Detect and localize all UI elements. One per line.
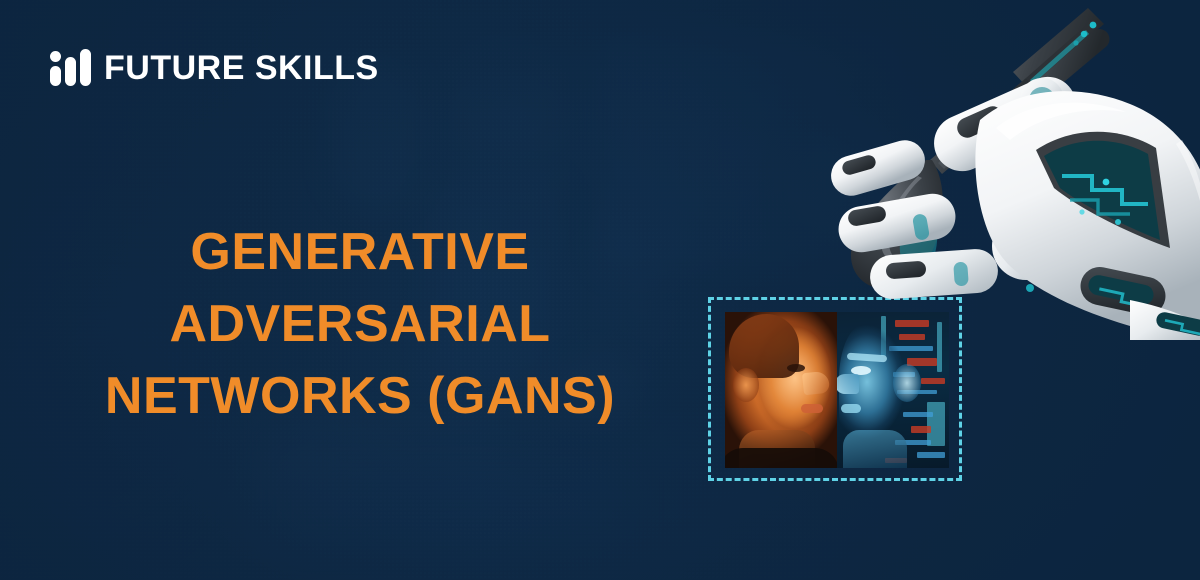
page-title: GENERATIVE ADVERSARIAL NETWORKS (GANS): [0, 216, 720, 432]
brand-logo[interactable]: FUTURE SKILLS: [50, 48, 379, 88]
title-line-2: ADVERSARIAL: [0, 288, 720, 360]
logo-bar-short: [50, 66, 61, 86]
brand-name: FUTURE SKILLS: [104, 51, 379, 85]
ai-ear: [893, 364, 921, 402]
logo-bar-medium: [65, 57, 76, 86]
title-line-1: GENERATIVE: [0, 216, 720, 288]
title-line-3: NETWORKS (GANS): [0, 360, 720, 432]
robotic-hand-with-stylus-icon: [830, 0, 1200, 340]
human-ear: [733, 368, 759, 402]
human-shoulder: [725, 448, 837, 468]
human-eye: [787, 364, 805, 372]
logo-dot: [50, 51, 61, 62]
ai-nose: [837, 374, 859, 394]
bar-chart-logo-icon: [50, 48, 90, 88]
logo-bar-tall: [80, 49, 91, 86]
gans-banner: FUTURE SKILLS GENERATIVE ADVERSARIAL NET…: [0, 0, 1200, 580]
ai-lips: [841, 404, 861, 413]
human-face-half: [725, 312, 837, 468]
human-lips: [801, 404, 823, 413]
ai-neck: [843, 430, 907, 468]
